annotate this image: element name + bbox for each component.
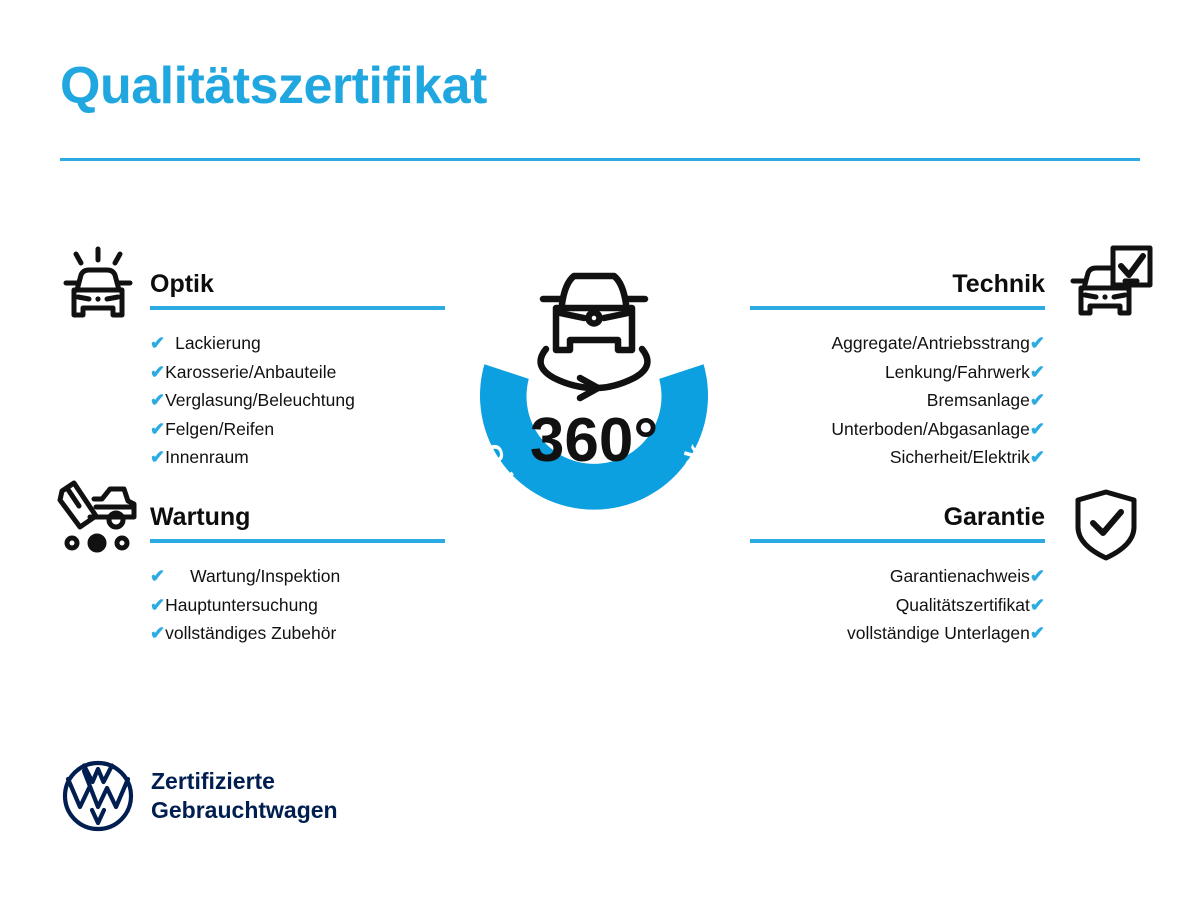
pencil-car-service-icon: [52, 477, 144, 563]
section-title-garantie: Garantie: [645, 505, 1045, 539]
shield-check-icon: [1070, 487, 1142, 563]
section-garantie: Garantie Garantienachweis✔Qualitätszerti…: [645, 505, 1045, 648]
check-icon: ✔: [150, 362, 165, 382]
check-icon: ✔: [1030, 595, 1045, 615]
check-icon: ✔: [150, 566, 190, 586]
check-icon: ✔: [150, 333, 175, 353]
car-front-checkbox-icon: [1062, 244, 1154, 330]
checklist-item: ✔Innenraum: [150, 443, 550, 472]
checklist-item: Garantienachweis✔: [645, 562, 1045, 591]
check-icon: ✔: [150, 623, 165, 643]
checklist-item: Lenkung/Fahrwerk✔: [645, 358, 1045, 387]
check-icon: ✔: [1030, 623, 1045, 643]
volkswagen-logo-icon: [62, 760, 134, 832]
section-optik: Optik ✔ Lackierung✔Karosserie/Anbauteile…: [150, 272, 550, 472]
section-underline-technik: [750, 306, 1045, 310]
check-icon: ✔: [1030, 362, 1045, 382]
check-icon: ✔: [1030, 447, 1045, 467]
car-front-shine-icon: [52, 244, 144, 330]
check-icon: ✔: [1030, 419, 1045, 439]
section-underline-garantie: [750, 539, 1045, 543]
section-title-wartung: Wartung: [150, 505, 550, 539]
check-icon: ✔: [1030, 566, 1045, 586]
check-icon: ✔: [150, 390, 165, 410]
checklist-item: ✔Felgen/Reifen: [150, 415, 550, 444]
section-list-wartung: ✔ Wartung/Inspektion✔Hauptuntersuchung✔v…: [150, 562, 550, 648]
checklist-item: Sicherheit/Elektrik✔: [645, 443, 1045, 472]
footer-logo-text: Zertifizierte Gebrauchtwagen: [151, 767, 338, 825]
check-icon: ✔: [1030, 390, 1045, 410]
section-title-optik: Optik: [150, 272, 550, 306]
section-list-technik: Aggregate/Antriebsstrang✔Lenkung/Fahrwer…: [645, 329, 1045, 472]
check-icon: ✔: [150, 447, 165, 467]
footer-brand-lockup: Zertifizierte Gebrauchtwagen: [62, 760, 338, 832]
section-wartung: Wartung ✔ Wartung/Inspektion✔Hauptunters…: [150, 505, 550, 648]
checklist-item: ✔Verglasung/Beleuchtung: [150, 386, 550, 415]
checklist-item: vollständige Unterlagen✔: [645, 619, 1045, 648]
checklist-item: ✔Hauptuntersuchung: [150, 591, 550, 620]
section-list-garantie: Garantienachweis✔Qualitätszertifikat✔vol…: [645, 562, 1045, 648]
title-divider: [60, 158, 1140, 161]
checklist-item: Unterboden/Abgasanlage✔: [645, 415, 1045, 444]
check-icon: ✔: [150, 595, 165, 615]
section-list-optik: ✔ Lackierung✔Karosserie/Anbauteile✔Vergl…: [150, 329, 550, 472]
section-title-technik: Technik: [645, 272, 1045, 306]
checklist-item: ✔Karosserie/Anbauteile: [150, 358, 550, 387]
check-icon: ✔: [150, 419, 165, 439]
checklist-item: ✔vollständiges Zubehör: [150, 619, 550, 648]
section-underline-optik: [150, 306, 445, 310]
section-technik: Technik Aggregate/Antriebsstrang✔Lenkung…: [645, 272, 1045, 472]
checklist-item: Qualitätszertifikat✔: [645, 591, 1045, 620]
check-icon: ✔: [1030, 333, 1045, 353]
section-underline-wartung: [150, 539, 445, 543]
page-title: Qualitätszertifikat: [60, 58, 487, 115]
checklist-item: ✔ Wartung/Inspektion: [150, 562, 550, 591]
checklist-item: ✔ Lackierung: [150, 329, 550, 358]
checklist-item: Bremsanlage✔: [645, 386, 1045, 415]
certificate-page: Qualitätszertifikat: [0, 0, 1200, 900]
checklist-item: Aggregate/Antriebsstrang✔: [645, 329, 1045, 358]
